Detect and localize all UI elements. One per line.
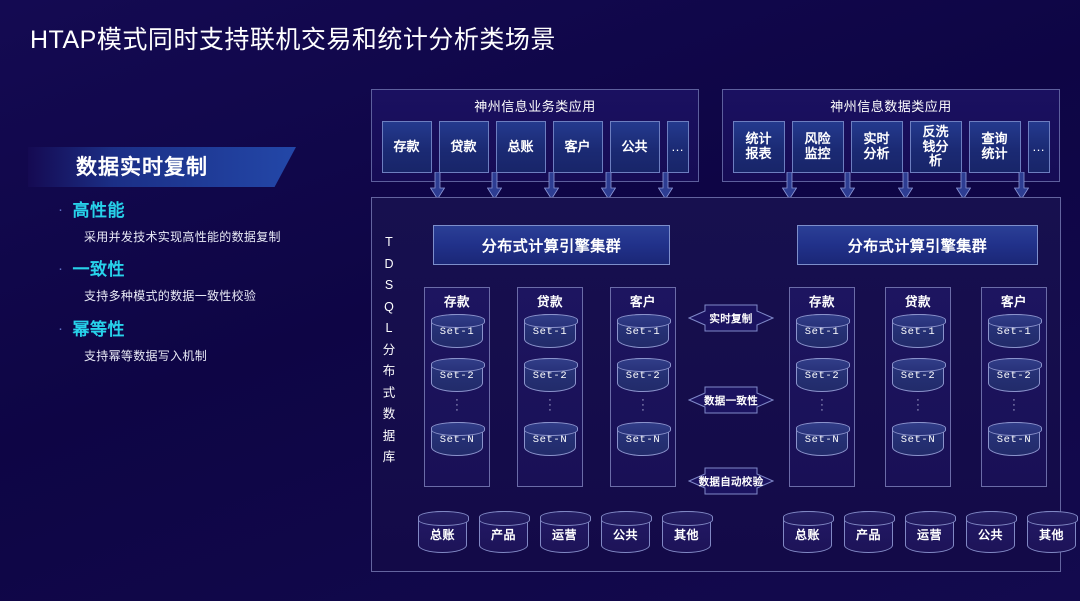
ellipsis-dots-icon: ··· — [518, 392, 582, 418]
ellipsis-dots-icon: ··· — [425, 392, 489, 418]
feature-item-2: · 幂等性 支持幂等数据写入机制 — [58, 315, 358, 364]
vlabel-char: 数 — [378, 404, 400, 426]
set-label: Set-N — [893, 434, 943, 446]
down-arrow-icon — [840, 172, 855, 200]
bottom-cylinder-operations[interactable]: 运营 — [540, 511, 589, 553]
down-arrow-icon — [658, 172, 673, 200]
down-arrow-icon — [898, 172, 913, 200]
set-column-customer-right: 客户 Set-1 Set-2 ··· Set-N — [981, 287, 1047, 487]
set-column-loan-right: 贷款 Set-1 Set-2 ··· Set-N — [885, 287, 951, 487]
set-cylinder[interactable]: Set-N — [524, 422, 576, 456]
set-column-customer-left: 客户 Set-1 Set-2 ··· Set-N — [610, 287, 676, 487]
down-arrow-icon — [782, 172, 797, 200]
bullet-icon: · — [58, 260, 68, 277]
set-cylinder[interactable]: Set-N — [892, 422, 944, 456]
app-box-more[interactable]: … — [667, 121, 689, 173]
set-label: Set-2 — [989, 370, 1039, 382]
set-cylinder[interactable]: Set-N — [796, 422, 848, 456]
vlabel-char: 分 — [378, 340, 400, 362]
feature-head-row: · 高性能 — [58, 196, 358, 221]
set-label: Set-N — [618, 434, 668, 446]
set-column-title: 存款 — [790, 288, 854, 310]
set-label: Set-1 — [618, 326, 668, 338]
set-label: Set-N — [797, 434, 847, 446]
set-label: Set-2 — [893, 370, 943, 382]
app-box-customer[interactable]: 客户 — [553, 121, 603, 173]
bottom-cylinder-product[interactable]: 产品 — [844, 511, 893, 553]
app-group-row: 统计 报表 风险 监控 实时 分析 反洗 钱分 析 查询 统计 … — [723, 115, 1059, 181]
bottom-cylinder-label: 公共 — [967, 526, 1014, 543]
set-cylinder[interactable]: Set-2 — [892, 358, 944, 392]
down-arrow-icon — [1014, 172, 1029, 200]
bullet-icon: · — [58, 201, 68, 218]
feature-title: 幂等性 — [72, 320, 125, 339]
set-column-title: 客户 — [982, 288, 1046, 310]
set-label: Set-N — [432, 434, 482, 446]
bottom-cylinder-other[interactable]: 其他 — [1027, 511, 1076, 553]
set-label: Set-N — [989, 434, 1039, 446]
bottom-cylinder-public[interactable]: 公共 — [966, 511, 1015, 553]
app-box-public[interactable]: 公共 — [610, 121, 660, 173]
sync-arrow-label: 数据自动校验 — [688, 474, 774, 489]
bottom-cylinder-other[interactable]: 其他 — [662, 511, 711, 553]
set-label: Set-1 — [797, 326, 847, 338]
down-arrow-icon — [544, 172, 559, 200]
ribbon-label: 数据实时复制 — [76, 151, 208, 181]
set-column-title: 客户 — [611, 288, 675, 310]
bottom-cylinder-label: 其他 — [1028, 526, 1075, 543]
app-group-title: 神州信息业务类应用 — [372, 90, 698, 115]
set-cylinder[interactable]: Set-2 — [524, 358, 576, 392]
down-arrow-icon — [956, 172, 971, 200]
vlabel-char: 布 — [378, 361, 400, 383]
compute-engine-cluster-right[interactable]: 分布式计算引擎集群 — [797, 225, 1038, 265]
vlabel-char: L — [378, 318, 400, 340]
down-arrow-icon — [601, 172, 616, 200]
down-arrow-icon — [487, 172, 502, 200]
sync-arrow-realtime-replication: 实时复制 — [688, 298, 774, 338]
set-label: Set-1 — [893, 326, 943, 338]
bottom-cylinder-label: 产品 — [845, 526, 892, 543]
bottom-cylinder-ledger[interactable]: 总账 — [783, 511, 832, 553]
feature-head-row: · 一致性 — [58, 255, 358, 280]
bottom-cylinder-row-right: 总账 产品 运营 公共 其他 — [783, 511, 1076, 553]
tdsql-vertical-label: T D S Q L 分 布 式 数 据 库 — [378, 232, 400, 469]
bottom-cylinder-product[interactable]: 产品 — [479, 511, 528, 553]
down-arrow-icon — [430, 172, 445, 200]
set-label: Set-N — [525, 434, 575, 446]
set-cylinder[interactable]: Set-1 — [524, 314, 576, 348]
sync-arrow-data-consistency: 数据一致性 — [688, 380, 774, 420]
feature-desc: 采用并发技术实现高性能的数据复制 — [84, 228, 358, 245]
set-cylinder[interactable]: Set-2 — [796, 358, 848, 392]
app-group-business: 神州信息业务类应用 存款 贷款 总账 客户 公共 … — [371, 89, 699, 182]
sync-arrow-auto-verification: 数据自动校验 — [688, 461, 774, 501]
ellipsis-dots-icon: ··· — [886, 392, 950, 418]
set-column-title: 存款 — [425, 288, 489, 310]
vlabel-char: T — [378, 232, 400, 254]
bottom-cylinder-label: 运营 — [541, 526, 588, 543]
set-column-deposit-left: 存款 Set-1 Set-2 ··· Set-N — [424, 287, 490, 487]
set-cylinder[interactable]: Set-1 — [892, 314, 944, 348]
feature-desc: 支持多种模式的数据一致性校验 — [84, 287, 358, 304]
app-box-realtime[interactable]: 实时 分析 — [851, 121, 903, 173]
compute-engine-cluster-left[interactable]: 分布式计算引擎集群 — [433, 225, 670, 265]
app-group-row: 存款 贷款 总账 客户 公共 … — [372, 115, 698, 181]
app-box-query[interactable]: 查询 统计 — [969, 121, 1021, 173]
vlabel-char: 式 — [378, 383, 400, 405]
set-label: Set-1 — [525, 326, 575, 338]
bottom-cylinder-ledger[interactable]: 总账 — [418, 511, 467, 553]
app-box-deposit[interactable]: 存款 — [382, 121, 432, 173]
app-group-title: 神州信息数据类应用 — [723, 90, 1059, 115]
set-cylinder[interactable]: Set-1 — [796, 314, 848, 348]
set-column-loan-left: 贷款 Set-1 Set-2 ··· Set-N — [517, 287, 583, 487]
bottom-cylinder-row-left: 总账 产品 运营 公共 其他 — [418, 511, 711, 553]
sync-arrow-label: 数据一致性 — [688, 393, 774, 408]
bottom-cylinder-label: 公共 — [602, 526, 649, 543]
bottom-cylinder-label: 其他 — [663, 526, 710, 543]
set-cylinder[interactable]: Set-1 — [988, 314, 1040, 348]
page-title: HTAP模式同时支持联机交易和统计分析类场景 — [30, 20, 556, 56]
set-cylinder[interactable]: Set-N — [431, 422, 483, 456]
set-cylinder[interactable]: Set-1 — [617, 314, 669, 348]
feature-desc: 支持幂等数据写入机制 — [84, 347, 358, 364]
app-box-report[interactable]: 统计 报表 — [733, 121, 785, 173]
ellipsis-dots-icon: ··· — [982, 392, 1046, 418]
bottom-cylinder-label: 总账 — [784, 526, 831, 543]
feature-item-1: · 一致性 支持多种模式的数据一致性校验 — [58, 255, 358, 304]
set-label: Set-1 — [989, 326, 1039, 338]
bottom-cylinder-operations[interactable]: 运营 — [905, 511, 954, 553]
set-column-deposit-right: 存款 Set-1 Set-2 ··· Set-N — [789, 287, 855, 487]
vlabel-char: 据 — [378, 426, 400, 448]
app-box-loan[interactable]: 贷款 — [439, 121, 489, 173]
bottom-cylinder-public[interactable]: 公共 — [601, 511, 650, 553]
set-cylinder[interactable]: Set-2 — [617, 358, 669, 392]
set-cylinder[interactable]: Set-2 — [431, 358, 483, 392]
app-box-aml[interactable]: 反洗 钱分 析 — [910, 121, 962, 173]
vlabel-char: D — [378, 254, 400, 276]
app-box-ledger[interactable]: 总账 — [496, 121, 546, 173]
app-group-data: 神州信息数据类应用 统计 报表 风险 监控 实时 分析 反洗 钱分 析 查询 统… — [722, 89, 1060, 182]
feature-head-row: · 幂等性 — [58, 315, 358, 340]
set-column-title: 贷款 — [518, 288, 582, 310]
app-box-risk[interactable]: 风险 监控 — [792, 121, 844, 173]
bottom-cylinder-label: 总账 — [419, 526, 466, 543]
slide-root: HTAP模式同时支持联机交易和统计分析类场景 数据实时复制 · 高性能 采用并发… — [0, 0, 1080, 601]
set-cylinder[interactable]: Set-1 — [431, 314, 483, 348]
set-label: Set-2 — [432, 370, 482, 382]
vlabel-char: 库 — [378, 447, 400, 469]
feature-title: 一致性 — [72, 260, 125, 279]
feature-item-0: · 高性能 采用并发技术实现高性能的数据复制 — [58, 196, 358, 245]
set-label: Set-2 — [618, 370, 668, 382]
vlabel-char: Q — [378, 297, 400, 319]
feature-title: 高性能 — [72, 201, 125, 220]
set-cylinder[interactable]: Set-N — [617, 422, 669, 456]
ellipsis-dots-icon: ··· — [790, 392, 854, 418]
set-cylinder[interactable]: Set-2 — [988, 358, 1040, 392]
set-label: Set-2 — [797, 370, 847, 382]
set-label: Set-1 — [432, 326, 482, 338]
set-column-title: 贷款 — [886, 288, 950, 310]
set-label: Set-2 — [525, 370, 575, 382]
bottom-cylinder-label: 产品 — [480, 526, 527, 543]
vlabel-char: S — [378, 275, 400, 297]
app-box-more[interactable]: … — [1028, 121, 1050, 173]
ellipsis-dots-icon: ··· — [611, 392, 675, 418]
bottom-cylinder-label: 运营 — [906, 526, 953, 543]
sync-arrow-label: 实时复制 — [688, 311, 774, 326]
bullet-icon: · — [58, 320, 68, 337]
set-cylinder[interactable]: Set-N — [988, 422, 1040, 456]
